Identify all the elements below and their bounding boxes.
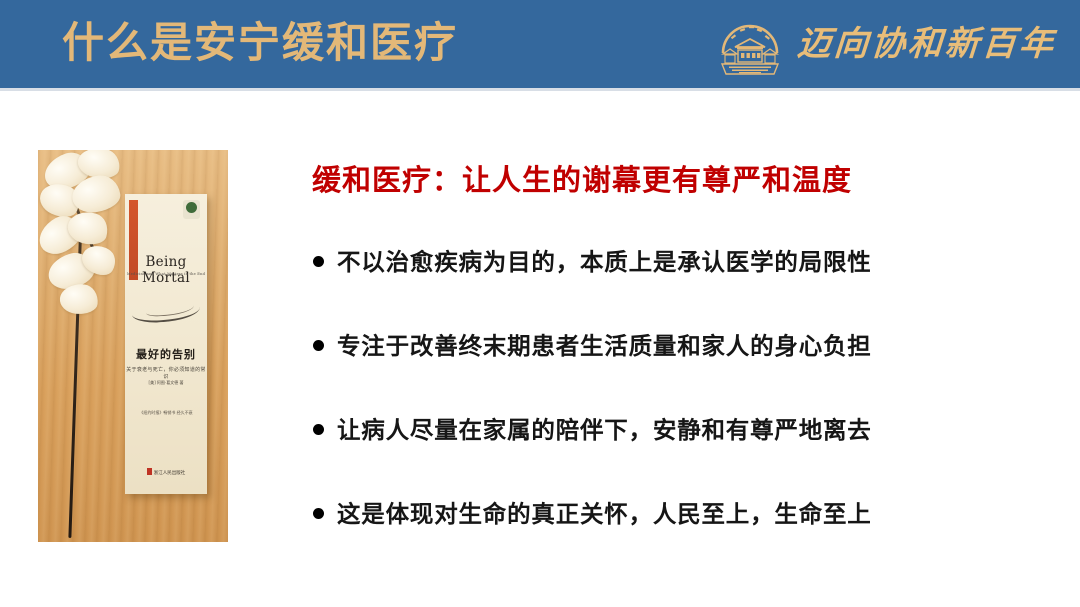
- book-title-english: Being Mortal: [125, 254, 207, 286]
- slide-root: 什么是安宁缓和医疗: [0, 0, 1080, 607]
- page-title: 什么是安宁缓和医疗: [62, 17, 458, 69]
- pumch-crest-emblem-icon: [713, 7, 787, 81]
- header-underline-divider: [0, 88, 1080, 91]
- book-author-line: [美] 阿图·葛文德 著: [125, 380, 207, 386]
- bullet-dot-icon: [313, 340, 324, 351]
- list-item: 这是体现对生命的真正关怀，人民至上，生命至上: [306, 498, 1046, 582]
- brand-logo-group: 迈向协和新百年: [713, 6, 1056, 82]
- list-item: 让病人尽量在家属的陪伴下，安静和有尊严地离去: [306, 414, 1046, 498]
- book-feather-illustration: [131, 298, 200, 324]
- brand-slogan: 迈向协和新百年: [796, 24, 1058, 64]
- bullet-dot-icon: [313, 424, 324, 435]
- book-title-chinese: 最好的告别: [125, 346, 207, 362]
- book-cover: Being Mortal Medicine and What Matters i…: [125, 194, 207, 494]
- list-item-label: 让病人尽量在家属的陪伴下，安静和有尊严地离去: [337, 414, 872, 446]
- list-item-label: 不以治愈疾病为目的，本质上是承认医学的局限性: [337, 246, 872, 278]
- being-mortal-book-photo: Being Mortal Medicine and What Matters i…: [38, 150, 228, 542]
- bullet-dot-icon: [313, 508, 324, 519]
- list-item: 不以治愈疾病为目的，本质上是承认医学的局限性: [306, 246, 1046, 330]
- list-item-label: 专注于改善终末期患者生活质量和家人的身心负担: [337, 330, 872, 362]
- book-subtitle-english: Medicine and What Matters in the End: [125, 272, 207, 276]
- bullet-dot-icon: [313, 256, 324, 267]
- bullet-list: 不以治愈疾病为目的，本质上是承认医学的局限性 专注于改善终末期患者生活质量和家人…: [306, 246, 1046, 582]
- book-award-badge-icon: [183, 200, 200, 219]
- list-item-label: 这是体现对生命的真正关怀，人民至上，生命至上: [337, 498, 872, 530]
- book-subtitle-chinese: 关于衰老与死亡，你必须知道的常识: [125, 366, 207, 380]
- book-publisher-logo: 浙江人民出版社: [125, 468, 207, 476]
- book-blurb-line-1: 《纽约时报》畅销书 经久不衰: [131, 410, 201, 417]
- section-headline: 缓和医疗：让人生的谢幕更有尊严和温度: [312, 160, 852, 200]
- publisher-mark-icon: [147, 468, 152, 475]
- list-item: 专注于改善终末期患者生活质量和家人的身心负担: [306, 330, 1046, 414]
- book-publisher-name: 浙江人民出版社: [154, 471, 186, 476]
